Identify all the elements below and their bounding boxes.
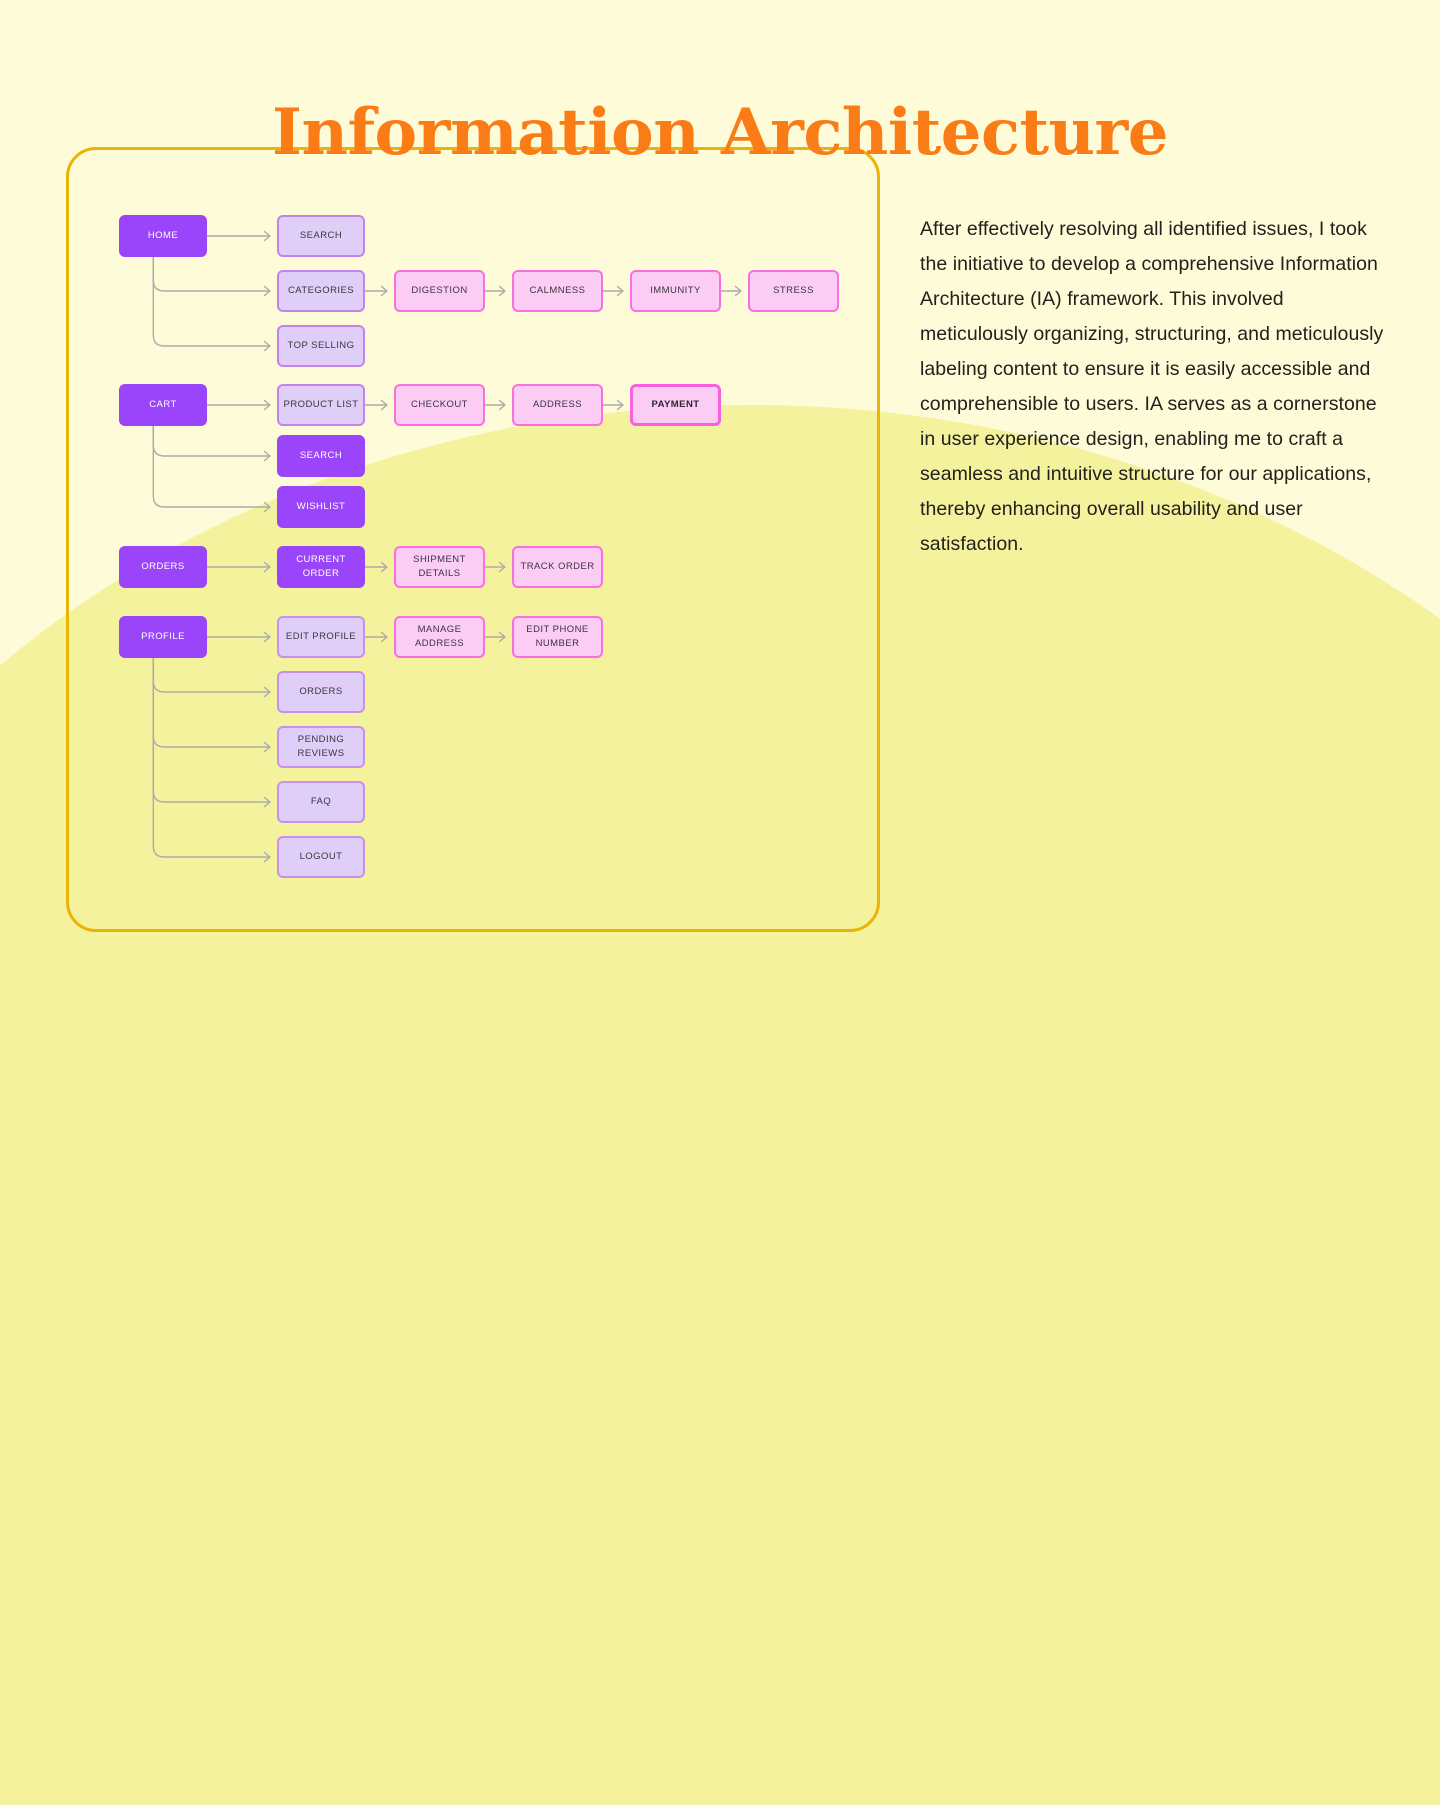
node-checkout[interactable]: CHECKOUT xyxy=(394,384,485,426)
node-cart[interactable]: CART xyxy=(119,384,207,426)
diagram-surface: HOMESEARCHCATEGORIESTOP SELLINGDIGESTION… xyxy=(69,150,883,935)
page-title: Information Architecture xyxy=(0,95,1440,170)
node-label: CALMNESS xyxy=(530,284,586,298)
node-label: EDIT PROFILE xyxy=(286,630,356,644)
node-label: EDIT PHONE NUMBER xyxy=(518,623,597,651)
node-label: SEARCH xyxy=(300,449,342,463)
description-paragraph: After effectively resolving all identifi… xyxy=(920,212,1390,562)
connector-cart-to-search2 xyxy=(153,426,269,456)
node-label: ORDERS xyxy=(299,685,342,699)
node-manageaddress[interactable]: MANAGE ADDRESS xyxy=(394,616,485,658)
connector-profile-to-logout xyxy=(153,658,269,857)
node-label: PROFILE xyxy=(141,630,185,644)
node-immunity[interactable]: IMMUNITY xyxy=(630,270,721,312)
node-categories[interactable]: CATEGORIES xyxy=(277,270,365,312)
node-label: WISHLIST xyxy=(297,500,345,514)
node-label: IMMUNITY xyxy=(650,284,701,298)
node-label: SHIPMENT DETAILS xyxy=(400,553,479,581)
node-label: CART xyxy=(149,398,177,412)
node-editphonenumber[interactable]: EDIT PHONE NUMBER xyxy=(512,616,603,658)
node-topselling[interactable]: TOP SELLING xyxy=(277,325,365,367)
node-address[interactable]: ADDRESS xyxy=(512,384,603,426)
node-editprofile[interactable]: EDIT PROFILE xyxy=(277,616,365,658)
node-stress[interactable]: STRESS xyxy=(748,270,839,312)
node-search1[interactable]: SEARCH xyxy=(277,215,365,257)
node-orders[interactable]: ORDERS xyxy=(119,546,207,588)
connector-profile-to-faq xyxy=(153,658,269,802)
node-label: PRODUCT LIST xyxy=(284,398,359,412)
connector-profile-to-pendingreviews xyxy=(153,658,269,747)
node-logout[interactable]: LOGOUT xyxy=(277,836,365,878)
node-wishlist[interactable]: WISHLIST xyxy=(277,486,365,528)
node-label: TOP SELLING xyxy=(288,339,355,353)
connector-layer xyxy=(69,150,883,935)
node-label: STRESS xyxy=(773,284,814,298)
node-home[interactable]: HOME xyxy=(119,215,207,257)
node-label: SEARCH xyxy=(300,229,342,243)
node-currentorder[interactable]: CURRENT ORDER xyxy=(277,546,365,588)
node-label: MANAGE ADDRESS xyxy=(400,623,479,651)
node-search2[interactable]: SEARCH xyxy=(277,435,365,477)
node-label: TRACK ORDER xyxy=(520,560,594,574)
node-label: PENDING REVIEWS xyxy=(283,733,359,761)
node-faq[interactable]: FAQ xyxy=(277,781,365,823)
node-label: CHECKOUT xyxy=(411,398,468,412)
connector-cart-to-wishlist xyxy=(153,426,269,507)
node-label: DIGESTION xyxy=(411,284,467,298)
node-orders2[interactable]: ORDERS xyxy=(277,671,365,713)
node-pendingreviews[interactable]: PENDING REVIEWS xyxy=(277,726,365,768)
node-digestion[interactable]: DIGESTION xyxy=(394,270,485,312)
node-label: PAYMENT xyxy=(651,398,699,412)
node-label: ADDRESS xyxy=(533,398,582,412)
node-payment[interactable]: PAYMENT xyxy=(630,384,721,426)
node-label: CURRENT ORDER xyxy=(282,553,360,581)
node-label: HOME xyxy=(148,229,178,243)
node-trackorder[interactable]: TRACK ORDER xyxy=(512,546,603,588)
node-label: ORDERS xyxy=(141,560,184,574)
node-label: CATEGORIES xyxy=(288,284,354,298)
node-productlist[interactable]: PRODUCT LIST xyxy=(277,384,365,426)
diagram-card: HOMESEARCHCATEGORIESTOP SELLINGDIGESTION… xyxy=(66,147,880,932)
node-shipmentdetails[interactable]: SHIPMENT DETAILS xyxy=(394,546,485,588)
node-label: FAQ xyxy=(311,795,331,809)
node-label: LOGOUT xyxy=(300,850,343,864)
node-profile[interactable]: PROFILE xyxy=(119,616,207,658)
connector-profile-to-orders2 xyxy=(153,658,269,692)
node-calmness[interactable]: CALMNESS xyxy=(512,270,603,312)
connector-home-to-topselling xyxy=(153,257,269,346)
connector-home-to-categories xyxy=(153,257,269,291)
